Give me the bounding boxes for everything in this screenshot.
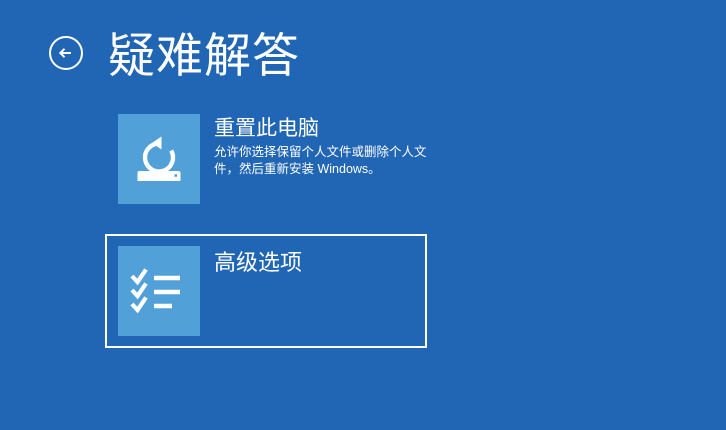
page-header: 疑难解答 bbox=[48, 22, 300, 84]
option-description: 允许你选择保留个人文件或删除个人文件，然后重新安装 Windows。 bbox=[214, 144, 427, 178]
page-title: 疑难解答 bbox=[108, 32, 300, 79]
option-reset-this-pc[interactable]: 重置此电脑 允许你选择保留个人文件或删除个人文件，然后重新安装 Windows。 bbox=[105, 106, 435, 212]
option-advanced-options[interactable]: 高级选项 bbox=[105, 234, 427, 348]
back-arrow-circle-icon[interactable] bbox=[48, 35, 84, 71]
option-title: 重置此电脑 bbox=[214, 116, 427, 142]
reset-pc-icon bbox=[118, 114, 200, 204]
option-text-block: 重置此电脑 允许你选择保留个人文件或删除个人文件，然后重新安装 Windows。 bbox=[214, 114, 427, 178]
option-title: 高级选项 bbox=[214, 248, 302, 278]
checklist-icon bbox=[118, 246, 200, 336]
troubleshoot-screen: 疑难解答 重置此电脑 允许你选择保留个人文件或删除个人文件，然后重新安装 Win… bbox=[0, 0, 726, 430]
options-spacer bbox=[105, 212, 435, 234]
options-list: 重置此电脑 允许你选择保留个人文件或删除个人文件，然后重新安装 Windows。 bbox=[105, 106, 435, 348]
option-text-block: 高级选项 bbox=[214, 246, 302, 280]
